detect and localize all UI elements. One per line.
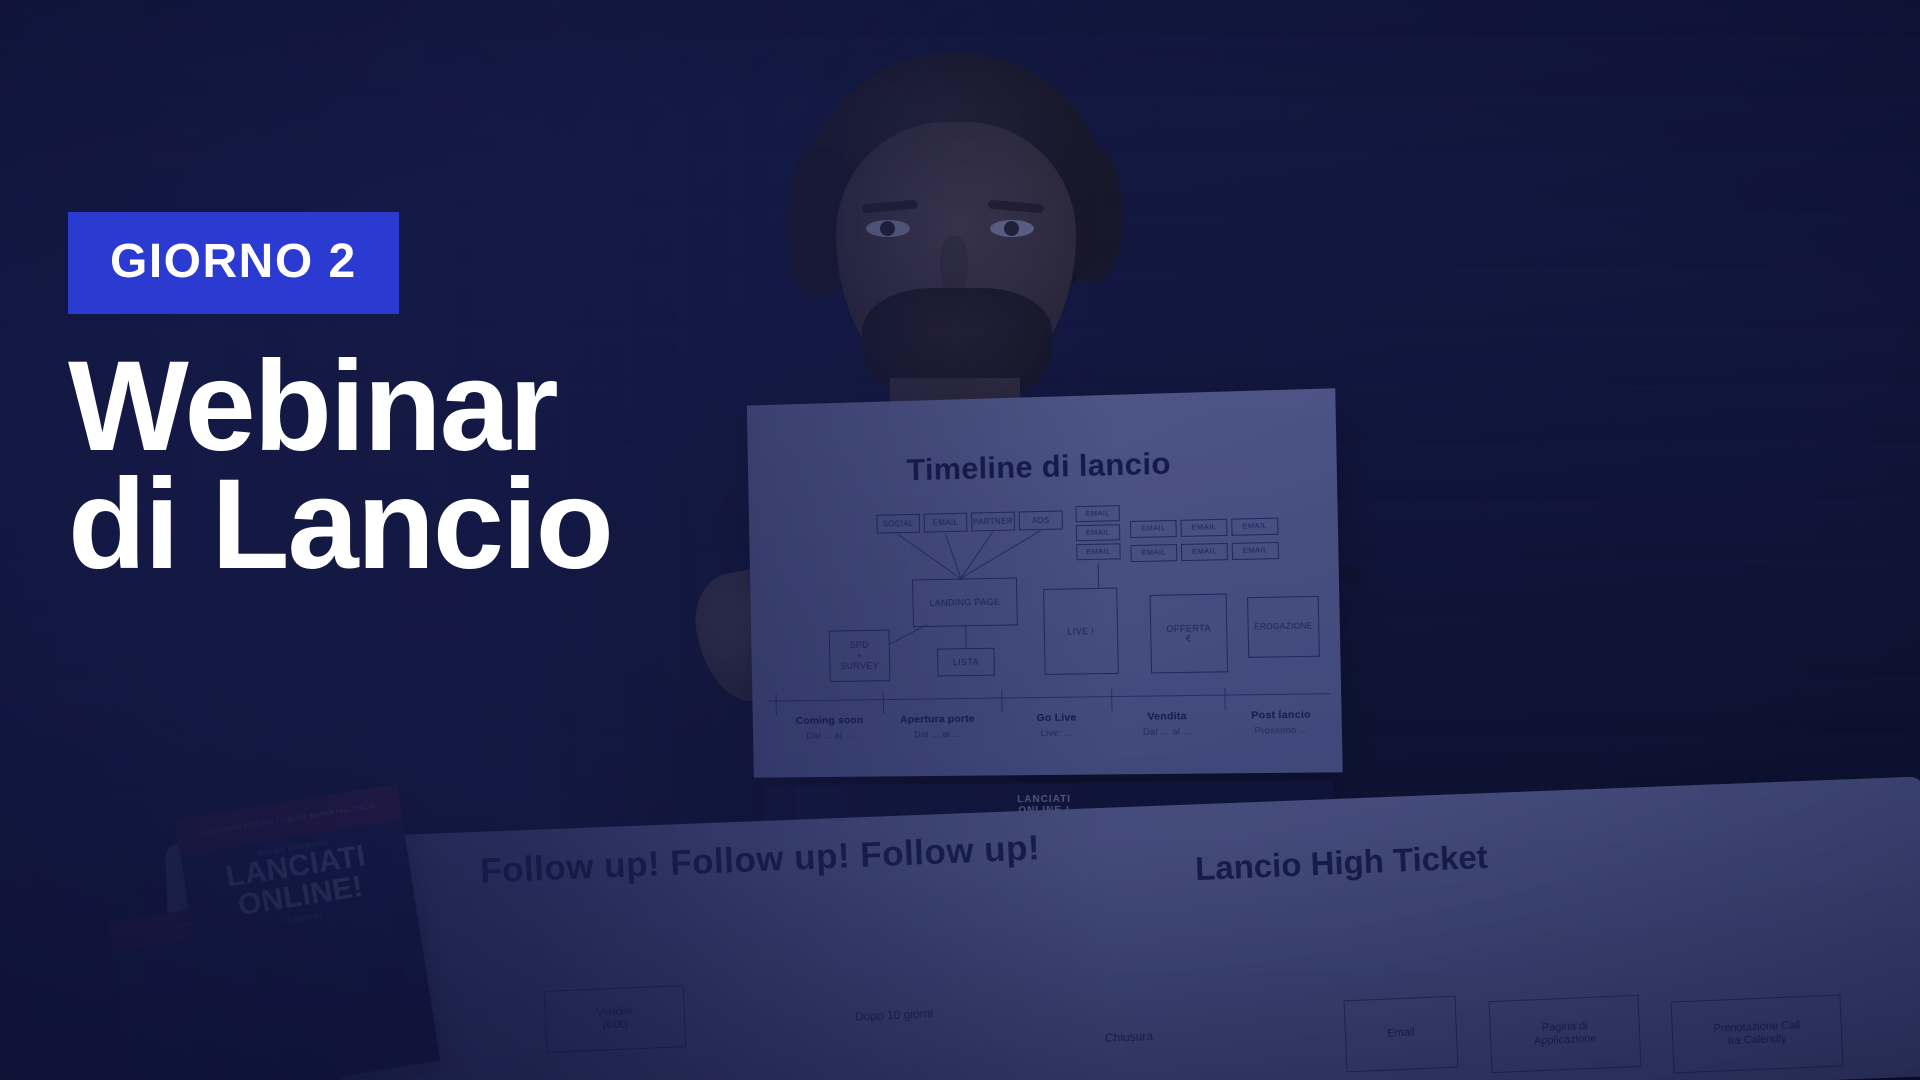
headline-line-1: Webinar <box>68 348 612 466</box>
video-title-card: Timeline di lancio SOCIALEMAILPARTNERADS… <box>0 0 1920 1080</box>
day-badge: GIORNO 2 <box>68 212 399 314</box>
title-text-block: GIORNO 2 Webinar di Lancio <box>68 212 612 584</box>
headline-line-2: di Lancio <box>68 466 612 584</box>
page-title: Webinar di Lancio <box>68 348 612 584</box>
day-badge-label: GIORNO 2 <box>110 235 357 288</box>
